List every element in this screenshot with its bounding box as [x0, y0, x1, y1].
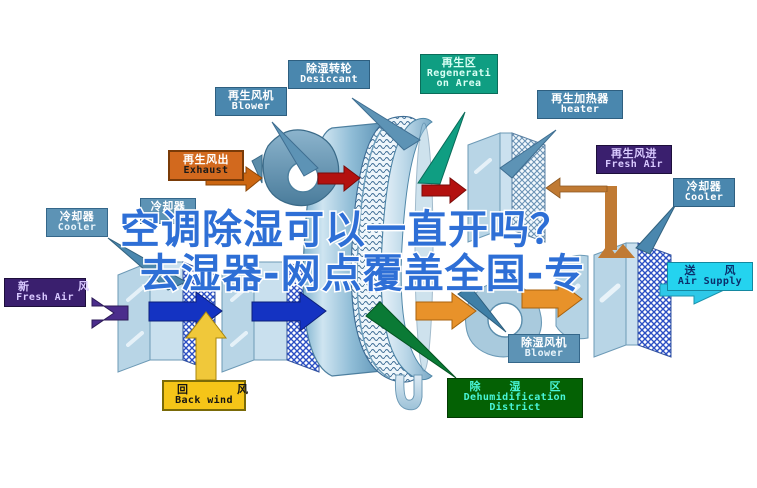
label-regen-fresh-air-cn: 再生风进 [601, 148, 667, 160]
label-cooler-left-cn: 冷却器 [51, 211, 103, 223]
regen-intake-arrow [546, 178, 635, 258]
label-dehumid-district[interactable]: 除 湿 区 Dehumidification District [447, 378, 583, 418]
label-cooler-right-cn: 冷却器 [678, 181, 730, 193]
label-air-supply[interactable]: 送 风 Air Supply [667, 262, 753, 291]
label-cooler-mid[interactable]: 冷却器 [140, 198, 196, 224]
label-dehumid-district-cn: 除 湿 区 [452, 381, 578, 393]
label-back-wind-cn: 回 风 [168, 384, 240, 396]
label-fresh-air-in-en: Fresh Air [9, 293, 81, 304]
label-desiccant-rotor[interactable]: 除湿转轮 Desiccant [288, 60, 370, 89]
regen-fan [252, 130, 339, 206]
label-cooler-mid-cn: 冷却器 [145, 201, 191, 213]
label-cooler-right[interactable]: 冷却器 Cooler [673, 178, 735, 207]
label-regen-area[interactable]: 再生区 Regenerati on Area [420, 54, 498, 94]
label-dehumid-district-en-2: District [452, 403, 578, 414]
label-regen-area-en-2: on Area [425, 79, 493, 90]
label-fresh-air-in[interactable]: 新 风 Fresh Air [4, 278, 86, 307]
label-desiccant-rotor-en: Desiccant [293, 75, 365, 86]
label-dehumid-blower-cn: 除湿风机 [513, 337, 575, 349]
label-regen-blower-en: Blower [220, 102, 282, 113]
label-cooler-right-en: Cooler [678, 193, 730, 204]
label-fresh-air-in-cn: 新 风 [9, 281, 81, 293]
label-exhaust-cn: 再生风出 [174, 154, 238, 166]
label-regen-fresh-air-en: Fresh Air [601, 160, 667, 171]
label-back-wind[interactable]: 回 风 Back wind [162, 380, 246, 411]
label-cooler-left-en: Cooler [51, 223, 103, 234]
label-regen-area-cn: 再生区 [425, 57, 493, 69]
diagram-illustration: XL [0, 0, 757, 488]
label-regen-heater[interactable]: 再生加热器 heater [537, 90, 623, 119]
label-regen-heater-cn: 再生加热器 [542, 93, 618, 105]
label-regen-blower-cn: 再生风机 [220, 90, 282, 102]
label-regen-heater-en: heater [542, 105, 618, 116]
label-air-supply-cn: 送 风 [672, 265, 748, 277]
dehumidifier-diagram: XL [0, 0, 757, 488]
cooling-coil-right [594, 243, 671, 357]
label-exhaust-en: Exhaust [174, 166, 238, 177]
label-cooler-left[interactable]: 冷却器 Cooler [46, 208, 108, 237]
label-back-wind-en: Back wind [168, 396, 240, 407]
label-regen-blower[interactable]: 再生风机 Blower [215, 87, 287, 116]
label-dehumid-blower[interactable]: 除湿风机 Blower [508, 334, 580, 363]
label-regen-fresh-air[interactable]: 再生风进 Fresh Air [596, 145, 672, 174]
label-air-supply-en: Air Supply [672, 277, 748, 288]
label-dehumid-blower-en: Blower [513, 349, 575, 360]
label-desiccant-rotor-cn: 除湿转轮 [293, 63, 365, 75]
label-exhaust[interactable]: 再生风出 Exhaust [168, 150, 244, 181]
